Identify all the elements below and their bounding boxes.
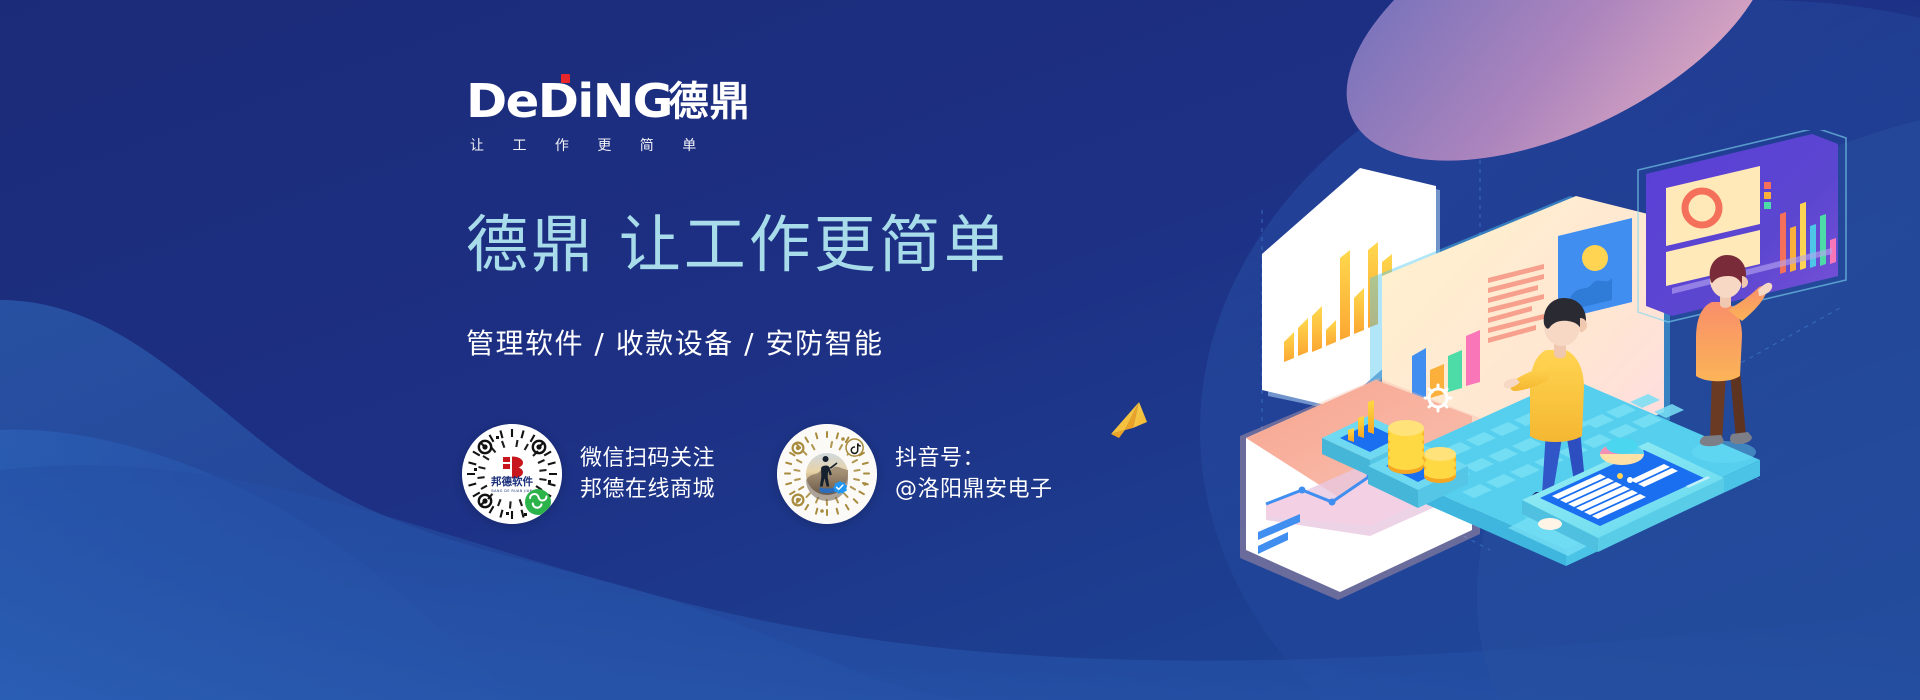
logo-red-dot-icon [561,74,570,83]
qr-code-row: 邦德软件 BANG DE RUAN JIAN 微信扫码关注 邦德在线商城 [462,424,1053,524]
paper-plane-icon [1105,392,1165,452]
logo-divider [466,136,644,137]
qr-caption-line-1: 抖音号： [895,443,1053,474]
promo-banner: DeDiNG 德鼎 让 工 作 更 简 单 德鼎 让工作更简单 管理软件 / 收… [0,0,1920,700]
qr-caption-wechat: 微信扫码关注 邦德在线商城 [580,443,715,505]
qr-item-wechat[interactable]: 邦德软件 BANG DE RUAN JIAN 微信扫码关注 邦德在线商城 [462,424,715,524]
logo-tagline: 让 工 作 更 简 单 [470,135,751,155]
logo-lockup: DeDiNG 德鼎 [466,78,751,124]
page-title: 德鼎 让工作更简单 [466,212,1009,279]
qr-caption-line-2: @洛阳鼎安电子 [895,474,1053,505]
brand-logo[interactable]: DeDiNG 德鼎 让 工 作 更 简 单 [466,78,751,155]
page-subtitle: 管理软件 / 收款设备 / 安防智能 [466,322,883,362]
qr-item-douyin[interactable]: 抖音号： @洛阳鼎安电子 [777,424,1053,524]
isometric-data-dashboard-illustration [1240,130,1920,600]
qr-caption-line-1: 微信扫码关注 [580,443,715,474]
purple-analytics-monitor [1638,130,1846,322]
qr-caption-line-2: 邦德在线商城 [580,474,715,505]
logo-wordmark-latin: DeDiNG [466,78,672,124]
logo-wordmark-chinese: 德鼎 [669,82,751,124]
svg-text:BANG DE RUAN JIAN: BANG DE RUAN JIAN [491,489,532,493]
douyin-qr-icon[interactable] [777,424,877,524]
svg-text:邦德软件: 邦德软件 [491,475,533,488]
qr-caption-douyin: 抖音号： @洛阳鼎安电子 [895,443,1053,505]
wechat-miniprogram-qr-icon[interactable]: 邦德软件 BANG DE RUAN JIAN [462,424,562,524]
